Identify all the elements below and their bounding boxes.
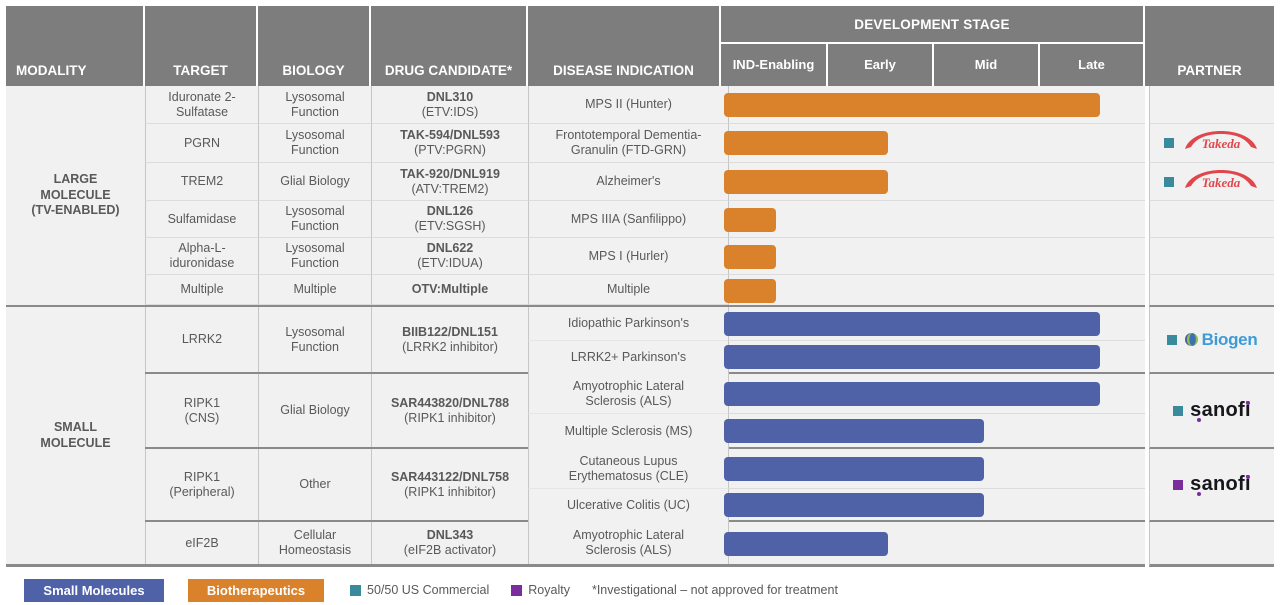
- cell-partner: [1149, 238, 1274, 275]
- legend-small-molecules: Small Molecules: [24, 579, 164, 602]
- bar-dnl788-ms: [724, 419, 984, 443]
- drug-name: OTV:Multiple: [412, 282, 488, 297]
- table-row: Iduronate 2-Sulfatase LysosomalFunction …: [145, 86, 729, 124]
- cell-drug-candidate: DNL622(ETV:IDUA): [371, 238, 528, 275]
- cell-biology: LysosomalFunction: [258, 238, 371, 275]
- table-body: LARGEMOLECULE(TV-ENABLED) SMALLMOLECULE …: [0, 86, 1280, 569]
- cell-partner: Biogen: [1149, 307, 1274, 374]
- header-disease-indication: DISEASE INDICATION: [528, 6, 721, 86]
- partner-marker-commercial-icon: [1167, 335, 1177, 345]
- bar-dnl788-als: [724, 382, 1100, 406]
- table-row: PGRN LysosomalFunction TAK-594/DNL593(PT…: [145, 124, 729, 163]
- header-target: TARGET: [145, 6, 258, 86]
- header-stage-late: Late: [1040, 44, 1145, 86]
- cell-biology: Glial Biology: [258, 163, 371, 201]
- modality-large-molecule: LARGEMOLECULE(TV-ENABLED): [6, 86, 145, 307]
- cell-drug-candidate: OTV:Multiple: [371, 275, 528, 305]
- bar-track: [729, 86, 1145, 124]
- bar-dnl151-idiopathic-parkinsons: [724, 312, 1100, 336]
- svg-text:Takeda: Takeda: [1201, 136, 1240, 151]
- legend-royalty-label: Royalty: [528, 583, 570, 597]
- header-biology: BIOLOGY: [258, 6, 371, 86]
- cell-drug-candidate: SAR443122/DNL758(RIPK1 inhibitor): [371, 449, 528, 520]
- cell-target: PGRN: [145, 124, 258, 163]
- cell-partner: [1149, 275, 1274, 307]
- bar-track: [729, 449, 1145, 489]
- cell-biology: CellularHomeostasis: [258, 522, 371, 564]
- drug-name: BIIB122/DNL151: [402, 325, 498, 340]
- drug-sub: (ETV:IDS): [422, 105, 478, 120]
- drug-sub: (LRRK2 inhibitor): [402, 340, 498, 355]
- legend-commercial-label: 50/50 US Commercial: [367, 583, 489, 597]
- takeda-logo-icon: Takeda: [1181, 130, 1261, 156]
- cell-disease: Frontotemporal Dementia-Granulin (FTD-GR…: [528, 124, 729, 163]
- cell-disease: Multiple Sclerosis (MS): [528, 414, 729, 449]
- partner-marker-commercial-icon: [1164, 138, 1174, 148]
- drug-sub: (PTV:PGRN): [400, 143, 500, 158]
- cell-target: Multiple: [145, 275, 258, 305]
- cell-drug-candidate: BIIB122/DNL151(LRRK2 inhibitor): [371, 307, 528, 372]
- drug-sub: (ETV:IDUA): [417, 256, 483, 271]
- table-row: eIF2B CellularHomeostasis DNL343(eIF2B a…: [145, 522, 729, 567]
- cell-target: TREM2: [145, 163, 258, 201]
- modality-small-molecule: SMALLMOLECULE: [6, 307, 145, 567]
- header-stage-early: Early: [828, 44, 934, 86]
- cell-biology: Other: [258, 449, 371, 520]
- drug-name: DNL126: [414, 204, 485, 219]
- cell-biology: LysosomalFunction: [258, 201, 371, 238]
- cell-biology: LysosomalFunction: [258, 307, 371, 372]
- drug-sub: (RIPK1 inhibitor): [391, 411, 509, 426]
- cell-partner: [1149, 86, 1274, 124]
- cell-disease: Ulcerative Colitis (UC): [528, 489, 729, 522]
- bar-dnl126-mps3a: [724, 208, 776, 232]
- legend-biotherapeutics: Biotherapeutics: [188, 579, 324, 602]
- cell-partner: Takeda: [1149, 124, 1274, 163]
- cell-disease: Multiple: [528, 275, 729, 305]
- table-row: Sulfamidase LysosomalFunction DNL126(ETV…: [145, 201, 729, 238]
- cell-disease: Amyotrophic LateralSclerosis (ALS): [528, 522, 729, 564]
- bar-track: [729, 201, 1145, 238]
- partner-marker-royalty-icon: [1173, 480, 1183, 490]
- bar-track: [729, 307, 1145, 341]
- header-stage-mid: Mid: [934, 44, 1040, 86]
- table-header: MODALITY TARGET BIOLOGY DRUG CANDIDATE* …: [0, 6, 1280, 86]
- drug-name: SAR443122/DNL758: [391, 470, 509, 485]
- header-development-stage: DEVELOPMENT STAGE: [721, 6, 1145, 44]
- cell-drug-candidate: TAK-594/DNL593(PTV:PGRN): [371, 124, 528, 163]
- bar-track: [729, 374, 1145, 414]
- drug-name: DNL622: [417, 241, 483, 256]
- bar-track: [729, 124, 1145, 163]
- svg-text:Takeda: Takeda: [1201, 175, 1240, 190]
- header-stage-ind-enabling: IND-Enabling: [721, 44, 828, 86]
- drug-sub: (RIPK1 inhibitor): [391, 485, 509, 500]
- cell-partner: sanofi: [1149, 374, 1274, 449]
- takeda-logo-icon: Takeda: [1181, 169, 1261, 195]
- cell-drug-candidate: TAK-920/DNL919(ATV:TREM2): [371, 163, 528, 201]
- royalty-marker-icon: [511, 585, 522, 596]
- cell-target: RIPK1(Peripheral): [145, 449, 258, 520]
- bar-track: [729, 522, 1145, 567]
- table-row: Multiple Multiple OTV:Multiple Multiple: [145, 275, 729, 307]
- stage-label-ind: IND-Enabling: [733, 58, 815, 72]
- cell-partner: Takeda: [1149, 163, 1274, 201]
- cell-partner: [1149, 201, 1274, 238]
- bar-otv-multiple: [724, 279, 776, 303]
- table-row: RIPK1(Peripheral) Other SAR443122/DNL758…: [145, 449, 729, 522]
- cell-drug-candidate: DNL343(eIF2B activator): [371, 522, 528, 564]
- cell-partner: sanofi: [1149, 449, 1274, 522]
- biogen-wordmark: Biogen: [1202, 330, 1258, 350]
- cell-drug-candidate: DNL126(ETV:SGSH): [371, 201, 528, 238]
- bar-dnl343-als: [724, 532, 888, 556]
- commercial-marker-icon: [350, 585, 361, 596]
- bar-track: [729, 489, 1145, 522]
- bar-dnl758-cle: [724, 457, 984, 481]
- bar-dnl622-mps1: [724, 245, 776, 269]
- bar-track: [729, 341, 1145, 374]
- bar-track: [729, 238, 1145, 275]
- cell-target: eIF2B: [145, 522, 258, 564]
- bar-track: [729, 275, 1145, 307]
- drug-name: TAK-594/DNL593: [400, 128, 500, 143]
- table-row: LRRK2 LysosomalFunction BIIB122/DNL151(L…: [145, 307, 729, 374]
- drug-name: DNL310: [422, 90, 478, 105]
- cell-target: Iduronate 2-Sulfatase: [145, 86, 258, 124]
- cell-disease: MPS I (Hurler): [528, 238, 729, 275]
- biogen-logo-icon: Biogen: [1184, 330, 1258, 350]
- table-row: Alpha-L-iduronidase LysosomalFunction DN…: [145, 238, 729, 275]
- drug-sub: (ATV:TREM2): [400, 182, 500, 197]
- table-row: TREM2 Glial Biology TAK-920/DNL919(ATV:T…: [145, 163, 729, 201]
- legend-royalty: Royalty: [511, 583, 570, 597]
- bar-dnl919-alzheimers: [724, 170, 888, 194]
- sanofi-logo-icon: sanofi: [1190, 399, 1251, 422]
- partner-marker-commercial-icon: [1164, 177, 1174, 187]
- cell-disease: MPS II (Hunter): [528, 86, 729, 124]
- cell-disease: LRRK2+ Parkinson's: [528, 341, 729, 374]
- modality-label: LARGEMOLECULE(TV-ENABLED): [31, 172, 119, 219]
- header-partner: PARTNER: [1145, 6, 1274, 86]
- legend-footnote: *Investigational – not approved for trea…: [592, 583, 838, 597]
- legend-commercial: 50/50 US Commercial: [350, 583, 489, 597]
- cell-drug-candidate: DNL310(ETV:IDS): [371, 86, 528, 124]
- cell-disease: Cutaneous LupusErythematosus (CLE): [528, 449, 729, 489]
- cell-target: Sulfamidase: [145, 201, 258, 238]
- drug-name: TAK-920/DNL919: [400, 167, 500, 182]
- cell-disease: Idiopathic Parkinson's: [528, 307, 729, 341]
- cell-target: RIPK1(CNS): [145, 374, 258, 447]
- bar-dnl151-lrrk2-parkinsons: [724, 345, 1100, 369]
- pipeline-chart: MODALITY TARGET BIOLOGY DRUG CANDIDATE* …: [0, 0, 1280, 605]
- bar-dnl593-ftd: [724, 131, 888, 155]
- cell-biology: Glial Biology: [258, 374, 371, 447]
- cell-disease: Alzheimer's: [528, 163, 729, 201]
- bar-dnl310-mps2: [724, 93, 1100, 117]
- drug-name: SAR443820/DNL788: [391, 396, 509, 411]
- bar-dnl758-uc: [724, 493, 984, 517]
- cell-biology: LysosomalFunction: [258, 86, 371, 124]
- cell-disease: MPS IIIA (Sanfilippo): [528, 201, 729, 238]
- modality-label: SMALLMOLECULE: [40, 420, 110, 451]
- cell-biology: LysosomalFunction: [258, 124, 371, 163]
- cell-target: Alpha-L-iduronidase: [145, 238, 258, 275]
- bar-track: [729, 414, 1145, 449]
- header-modality: MODALITY: [6, 6, 145, 86]
- sanofi-logo-icon: sanofi: [1190, 473, 1251, 496]
- cell-biology: Multiple: [258, 275, 371, 305]
- legend: Small Molecules Biotherapeutics 50/50 US…: [0, 575, 1280, 605]
- header-drug-candidate: DRUG CANDIDATE*: [371, 6, 528, 86]
- cell-target: LRRK2: [145, 307, 258, 372]
- table-row: RIPK1(CNS) Glial Biology SAR443820/DNL78…: [145, 374, 729, 449]
- cell-partner: [1149, 522, 1274, 567]
- cell-drug-candidate: SAR443820/DNL788(RIPK1 inhibitor): [371, 374, 528, 447]
- drug-sub: (eIF2B activator): [404, 543, 496, 558]
- partner-marker-commercial-icon: [1173, 406, 1183, 416]
- cell-disease: Amyotrophic LateralSclerosis (ALS): [528, 374, 729, 414]
- bar-track: [729, 163, 1145, 201]
- drug-name: DNL343: [404, 528, 496, 543]
- drug-sub: (ETV:SGSH): [414, 219, 485, 234]
